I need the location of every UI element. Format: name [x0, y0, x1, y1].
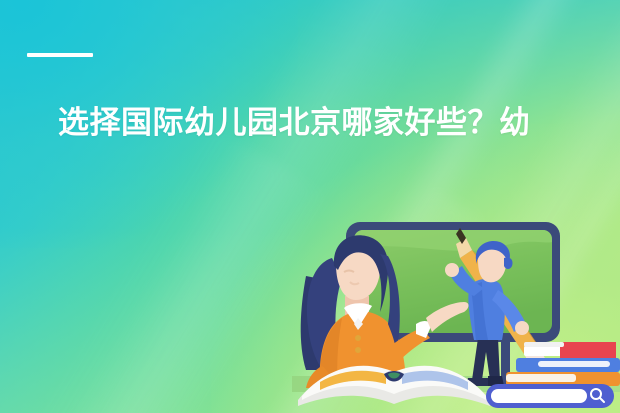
- teacher-button: [355, 335, 361, 341]
- search-bar[interactable]: [486, 384, 614, 408]
- illustration-canvas: [292, 198, 620, 413]
- book-middle-pages: [538, 361, 610, 367]
- student-pants: [472, 338, 500, 380]
- student-hand-front: [515, 321, 529, 335]
- page-title: 选择国际幼儿园北京哪家好些？幼: [58, 101, 620, 145]
- article-cover-banner: 选择国际幼儿园北京哪家好些？幼: [0, 0, 620, 413]
- headline-accent-rule: [27, 53, 93, 57]
- book-bottom-pages: [506, 374, 576, 382]
- book-pages-edge: [524, 342, 564, 347]
- search-input[interactable]: [491, 389, 587, 403]
- education-illustration: [292, 198, 620, 413]
- book-top-cover: [560, 342, 616, 358]
- student-hand-back: [445, 263, 459, 277]
- teacher-button: [355, 347, 361, 353]
